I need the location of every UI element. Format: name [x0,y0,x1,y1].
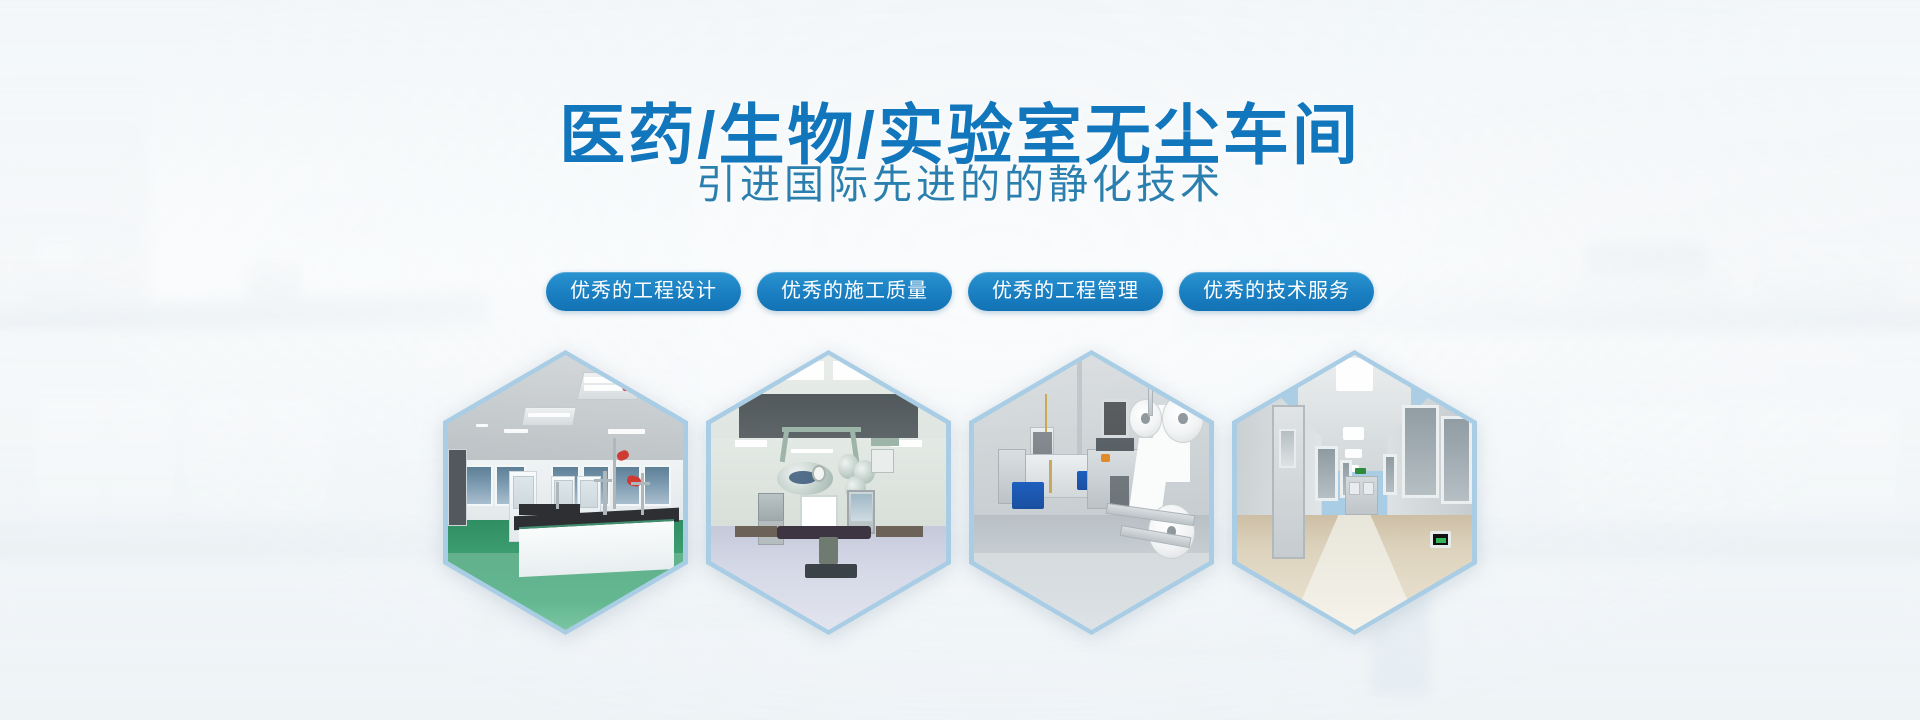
scene-operating-theatre [711,355,946,630]
hexagon-image-cleanroom-corridor[interactable] [1232,350,1477,635]
ceiling-light [608,429,646,433]
service-pole [613,438,616,510]
fixture-pole [603,471,607,515]
faucet [556,482,559,510]
wall-light [791,449,833,453]
corridor-window [1383,454,1397,495]
ceiling-light [1343,427,1364,441]
sink-counter [519,504,580,515]
fixture-pole [641,473,645,514]
bench-base [519,519,674,577]
corridor-window [1315,446,1339,501]
hexagon-clip [448,355,683,630]
ceiling-light [476,424,488,427]
corridor-door [1272,405,1305,559]
cabinet-glass [580,480,599,508]
end-door-window [1363,482,1375,496]
wall-window [1101,399,1129,438]
hexagon-clip [1237,355,1472,630]
feature-pill-technical-service[interactable]: 优秀的技术服务 [1179,272,1374,311]
hero-banner: 医药/生物/实验室无尘车间 引进国际先进的的静化技术 优秀的工程设计 优秀的施工… [0,0,1920,720]
table-column [819,537,838,565]
roll-shaft [1148,388,1153,416]
banner-content: 医药/生物/实验室无尘车间 引进国际先进的的静化技术 优秀的工程设计 优秀的施工… [0,0,1920,720]
control-knob [1101,454,1110,462]
ceiling-light [528,413,570,417]
scene-production-line [974,355,1209,630]
hexagon-clip [711,355,946,630]
window [643,465,671,506]
equipment-panel [871,449,895,474]
hexagon-image-laboratory-bench-room[interactable] [443,350,688,635]
floor-gloss [974,553,1209,630]
scene-laboratory [448,355,683,630]
machine-detail [1033,432,1052,454]
feature-pill-engineering-design[interactable]: 优秀的工程设计 [546,272,741,311]
corridor-window [1402,405,1440,499]
feature-pill-engineering-management[interactable]: 优秀的工程管理 [968,272,1163,311]
fixture-arm [631,482,650,485]
monitor-arm [871,438,899,446]
corridor-window [1441,416,1472,504]
ceiling-light [1345,449,1361,458]
feature-pill-list: 优秀的工程设计 优秀的施工质量 优秀的工程管理 优秀的技术服务 [0,272,1920,311]
machine-post [1045,394,1047,433]
skylight [763,361,824,380]
feature-pill-construction-quality[interactable]: 优秀的施工质量 [757,272,952,311]
hexagon-gallery [0,350,1920,635]
ceiling-light [504,429,528,432]
door-viewport [1279,429,1295,468]
door-window [851,494,872,522]
wall-clock [812,465,826,482]
control-display-icon [1430,531,1451,548]
page-subtitle: 引进国际先进的的静化技术 [0,152,1920,210]
exit-sign-icon [1355,468,1367,474]
hexagon-image-operating-theatre[interactable] [706,350,951,635]
hexagon-clip [974,355,1209,630]
machine-top [1096,438,1134,452]
wall-base [876,526,923,537]
roll-hub [1178,413,1187,424]
dark-cabinet [448,449,467,526]
skylight [833,361,894,380]
table-base [805,564,857,578]
fixture-arm [594,479,613,482]
wall-light [735,440,768,447]
scene-corridor [1237,355,1472,630]
cabinet-handle [1049,460,1051,493]
blue-crate [1012,482,1045,510]
end-door-window [1349,482,1361,496]
hexagon-image-production-line-cleanroom[interactable] [969,350,1214,635]
wall-base [735,526,777,537]
